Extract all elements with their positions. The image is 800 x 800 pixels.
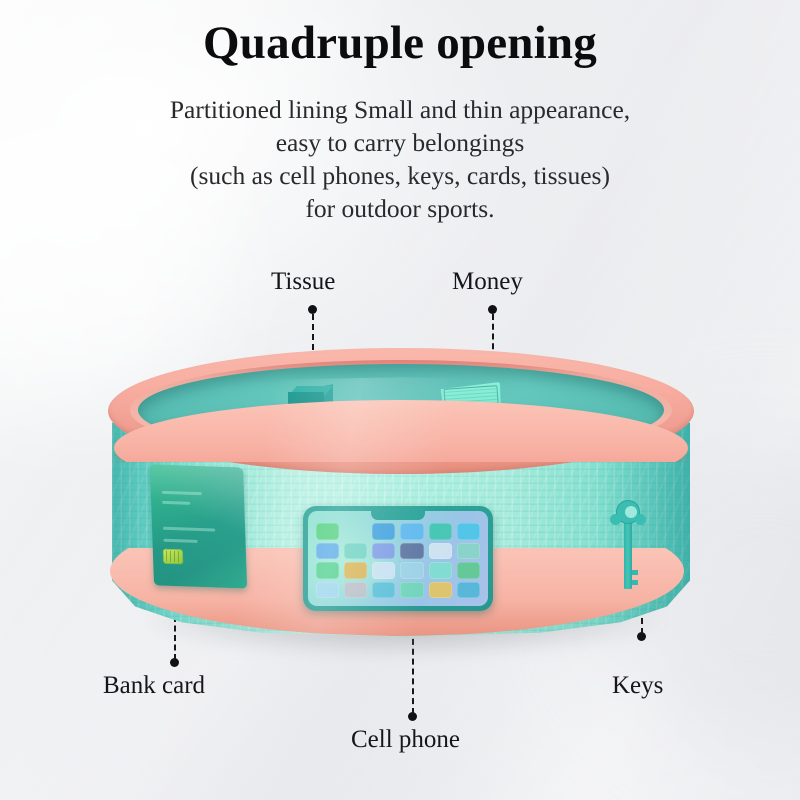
product-infographic: Quadruple opening Partitioned lining Sma… [0,0,800,800]
bank-card [150,464,247,588]
key-head [616,500,640,524]
phone-app-icon [316,562,339,579]
belt-elastic-front-lip-shape [114,400,688,462]
callout-label-money: Money [452,268,523,296]
phone-app-icon [316,582,339,599]
subtitle-line-1: Partitioned lining Small and thin appear… [0,93,800,126]
phone-app-icon [372,582,395,599]
phone-app-icon [400,582,423,599]
page-title: Quadruple opening [0,18,800,69]
belt-elastic-front-lip [114,400,688,462]
callout-label-bank-card: Bank card [103,672,205,700]
callout-label-keys: Keys [612,672,663,700]
subtitle-line-3: (such as cell phones, keys, cards, tissu… [0,159,800,192]
key-tooth-2 [632,580,638,585]
phone-app-icon [457,582,480,599]
phone-app-grid [316,523,480,598]
phone-app-icon [429,523,452,540]
key [613,500,643,592]
phone-app-icon [429,562,452,579]
callout-label-cell-phone: Cell phone [351,726,460,754]
phone-app-icon [316,543,339,560]
phone-app-icon [344,582,367,599]
phone-screen [308,511,488,606]
key-hole [625,506,637,518]
phone-notch [371,511,425,520]
phone-app-icon [316,523,339,540]
bank-card-chip [163,549,184,565]
page-subtitle: Partitioned lining Small and thin appear… [0,93,800,226]
phone-app-icon [344,562,367,579]
phone-app-icon [372,562,395,579]
callout-label-tissue: Tissue [271,268,335,296]
phone-app-icon [400,543,423,560]
callout-dot-money [488,305,497,314]
cell-phone [303,506,493,611]
phone-app-slot-empty [344,523,367,540]
phone-app-icon [457,543,480,560]
phone-app-icon [372,543,395,560]
subtitle-line-2: easy to carry belongings [0,126,800,159]
key-shaft [624,521,632,589]
waist-belt-product [108,348,694,648]
phone-app-icon [457,562,480,579]
phone-app-icon [429,543,452,560]
phone-app-icon [400,523,423,540]
key-tooth-1 [632,570,638,575]
phone-app-icon [429,582,452,599]
phone-app-icon [344,543,367,560]
phone-app-icon [457,523,480,540]
callout-dot-tissue [308,305,317,314]
phone-app-icon [400,562,423,579]
phone-app-icon [372,523,395,540]
subtitle-line-4: for outdoor sports. [0,192,800,225]
